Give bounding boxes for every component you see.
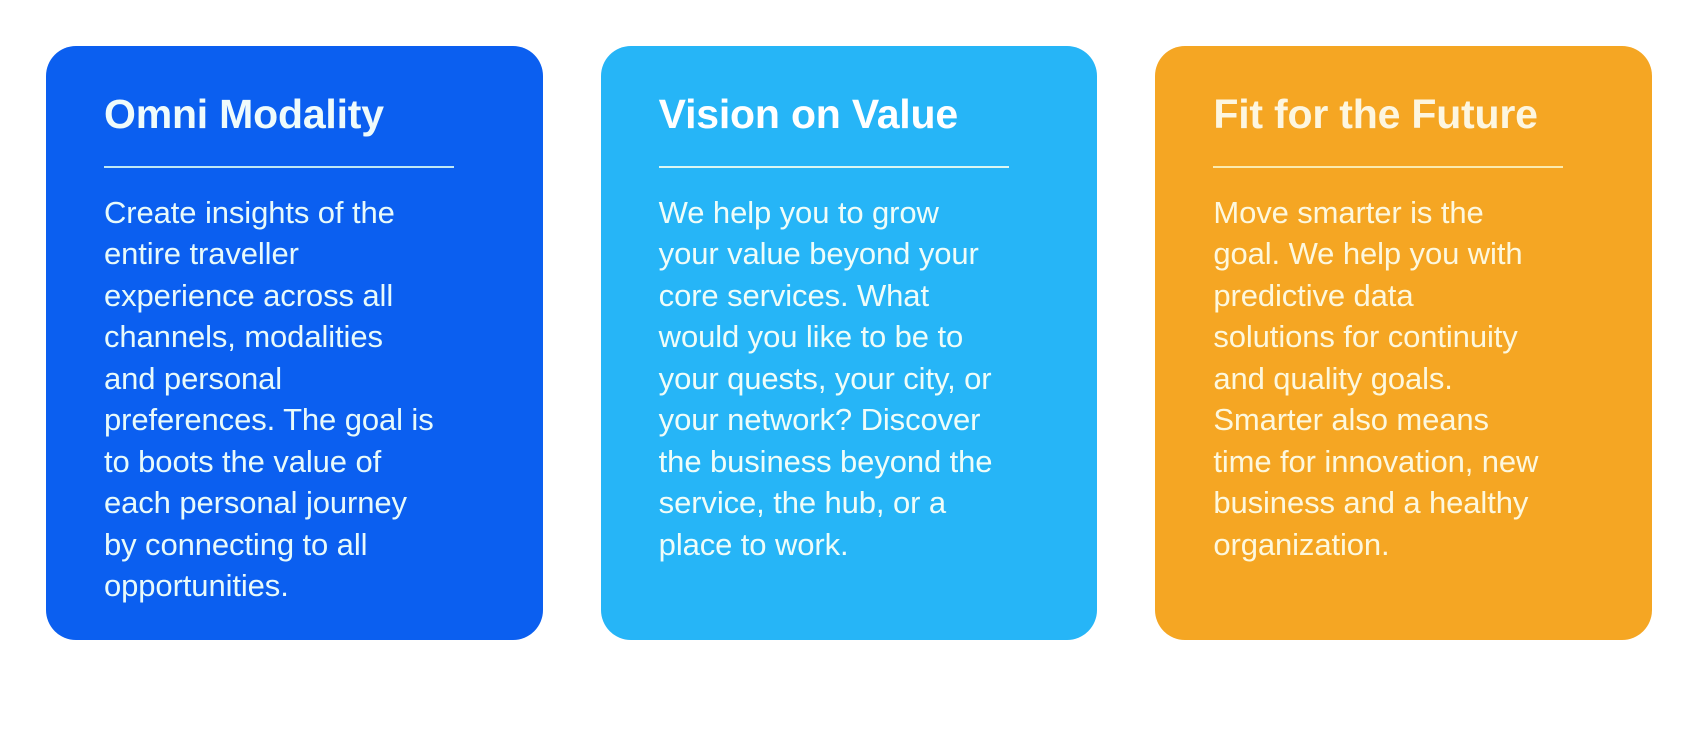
feature-cards-container: Omni Modality Create insights of the ent…: [0, 0, 1700, 742]
card-body-vision-on-value: We help you to grow your value beyond yo…: [659, 192, 1052, 566]
card-divider-vision-on-value: [659, 166, 1009, 168]
card-body-fit-for-the-future: Move smarter is the goal. We help you wi…: [1213, 192, 1606, 566]
card-title-omni-modality: Omni Modality: [104, 93, 497, 136]
feature-card-fit-for-the-future[interactable]: Fit for the Future Move smarter is the g…: [1155, 46, 1652, 640]
card-body-omni-modality: Create insights of the entire traveller …: [104, 192, 497, 607]
card-title-fit-for-the-future: Fit for the Future: [1213, 93, 1606, 136]
feature-card-omni-modality[interactable]: Omni Modality Create insights of the ent…: [46, 46, 543, 640]
feature-card-vision-on-value[interactable]: Vision on Value We help you to grow your…: [601, 46, 1098, 640]
card-divider-fit-for-the-future: [1213, 166, 1563, 168]
card-title-vision-on-value: Vision on Value: [659, 93, 1052, 136]
card-divider-omni-modality: [104, 166, 454, 168]
